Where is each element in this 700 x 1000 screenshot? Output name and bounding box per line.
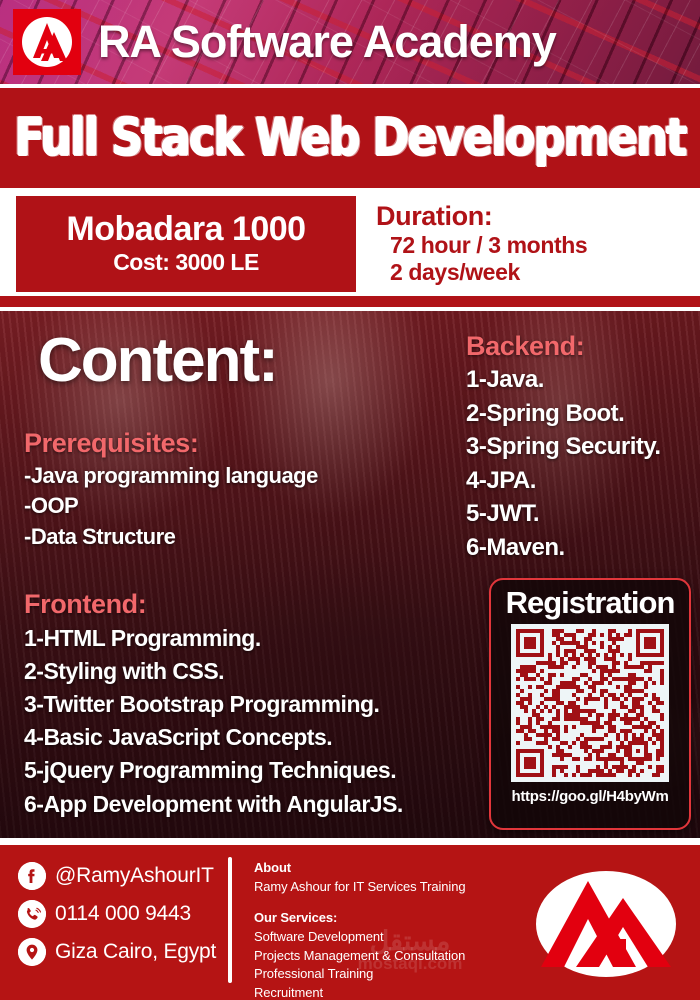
about-text: Ramy Ashour for IT Services Training xyxy=(254,878,465,896)
program-name: Mobadara 1000 xyxy=(66,212,305,247)
backend-item: 5-JWT. xyxy=(466,497,661,531)
location-pin-icon xyxy=(18,938,46,966)
duration-label: Duration: xyxy=(376,201,686,231)
frontend-item: 1-HTML Programming. xyxy=(24,622,403,655)
registration-box[interactable]: Registration https://goo.gl/H4byWm xyxy=(489,578,691,830)
prerequisites-block: Prerequisites: -Java programming languag… xyxy=(24,428,318,552)
backend-item: 6-Maven. xyxy=(466,531,661,565)
backend-block: Backend: 1-Java. 2-Spring Boot. 3-Spring… xyxy=(466,331,661,565)
frontend-item: 2-Styling with CSS. xyxy=(24,655,403,688)
contact-list: @RamyAshourIT 0114 000 9443 Giza Cairo, … xyxy=(18,857,216,971)
registration-url[interactable]: https://goo.gl/H4byWm xyxy=(491,788,689,805)
prerequisites-item: -Data Structure xyxy=(24,522,318,552)
facebook-icon xyxy=(18,862,46,890)
about-label: About xyxy=(254,859,465,878)
registration-title: Registration xyxy=(491,585,689,621)
duration-frequency: 2 days/week xyxy=(390,259,686,287)
footer-divider xyxy=(0,838,700,845)
contact-row-facebook[interactable]: @RamyAshourIT xyxy=(18,857,216,895)
contact-row-location[interactable]: Giza Cairo, Egypt xyxy=(18,933,216,971)
service-item: Recruitment xyxy=(254,984,465,1000)
phone-number[interactable]: 0114 000 9443 xyxy=(55,902,191,926)
ra-monogram-logo-icon xyxy=(524,865,688,983)
duration-hours: 72 hour / 3 months xyxy=(390,232,686,260)
ra-monogram-logo-icon xyxy=(13,9,81,75)
course-title: Full Stack Web Development xyxy=(21,88,679,188)
frontend-heading: Frontend: xyxy=(24,589,403,620)
about-spacer xyxy=(254,896,465,909)
content-heading: Content: xyxy=(38,325,277,396)
header-title: RA Software Academy xyxy=(98,9,556,75)
service-item: Software Development xyxy=(254,928,465,946)
location-text[interactable]: Giza Cairo, Egypt xyxy=(55,940,216,964)
prerequisites-item: -OOP xyxy=(24,491,318,521)
facebook-handle[interactable]: @RamyAshourIT xyxy=(55,864,214,888)
frontend-item: 4-Basic JavaScript Concepts. xyxy=(24,721,403,754)
prerequisites-heading: Prerequisites: xyxy=(24,428,318,459)
banner: Full Stack Web Development xyxy=(0,88,700,188)
backend-heading: Backend: xyxy=(466,331,661,362)
footer-logo xyxy=(524,865,688,983)
poster: RA Software Academy Full Stack Web Devel… xyxy=(0,0,700,1000)
program-box: Mobadara 1000 Cost: 3000 LE xyxy=(16,196,356,292)
qr-code-icon[interactable] xyxy=(511,624,669,782)
header-divider xyxy=(0,84,700,88)
backend-item: 4-JPA. xyxy=(466,464,661,498)
frontend-item: 3-Twitter Bootstrap Programming. xyxy=(24,688,403,721)
duration-box: Duration: 72 hour / 3 months 2 days/week xyxy=(376,196,686,292)
backend-item: 3-Spring Security. xyxy=(466,430,661,464)
frontend-block: Frontend: 1-HTML Programming. 2-Styling … xyxy=(24,589,403,821)
backend-item: 1-Java. xyxy=(466,363,661,397)
services-label: Our Services: xyxy=(254,909,465,928)
prerequisites-item: -Java programming language xyxy=(24,461,318,491)
service-item: Professional Training xyxy=(254,965,465,983)
footer: @RamyAshourIT 0114 000 9443 Giza Cairo, … xyxy=(0,845,700,1000)
about-block: About Ramy Ashour for IT Services Traini… xyxy=(254,859,465,1000)
phone-icon xyxy=(18,900,46,928)
frontend-item: 5-jQuery Programming Techniques. xyxy=(24,754,403,787)
program-cost: Cost: 3000 LE xyxy=(113,249,259,276)
content-section: Content: Prerequisites: -Java programmin… xyxy=(0,311,700,838)
footer-vertical-divider xyxy=(228,857,232,983)
frontend-item: 6-App Development with AngularJS. xyxy=(24,788,403,821)
service-item: Projects Management & Consultation xyxy=(254,947,465,965)
qr-code-canvas[interactable] xyxy=(516,629,664,777)
backend-item: 2-Spring Boot. xyxy=(466,397,661,431)
contact-row-phone[interactable]: 0114 000 9443 xyxy=(18,895,216,933)
header-logo xyxy=(13,9,81,75)
